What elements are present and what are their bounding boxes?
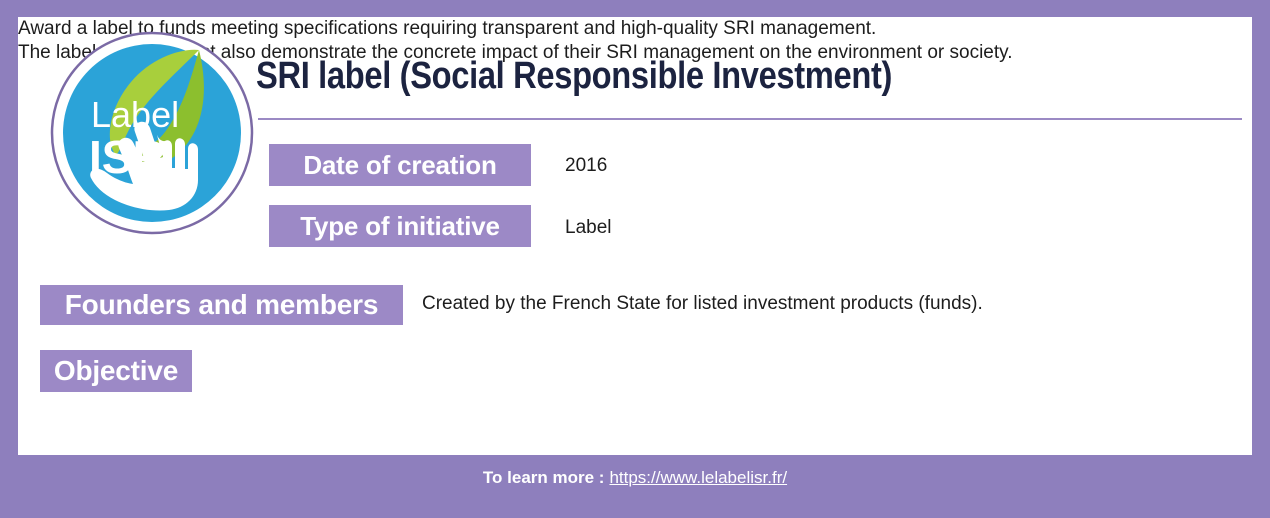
- logo-label-word: Label: [91, 94, 179, 135]
- field-value-type-of-initiative: Label: [565, 217, 612, 239]
- field-value-date-of-creation: 2016: [565, 155, 607, 177]
- title-divider: [258, 118, 1242, 120]
- poster-frame: Label ISR SRI label (Social Responsible …: [0, 0, 1270, 518]
- content-card: Label ISR SRI label (Social Responsible …: [18, 17, 1252, 455]
- footer-label: To learn more :: [483, 468, 605, 488]
- field-label-objective: Objective: [40, 350, 192, 392]
- logo-acronym: ISR: [89, 131, 166, 183]
- label-isr-logo: Label ISR: [47, 28, 257, 238]
- page-title: SRI label (Social Responsible Investment…: [256, 55, 892, 98]
- field-label-founders-and-members: Founders and members: [40, 285, 403, 325]
- field-label-type-of-initiative: Type of initiative: [269, 205, 531, 247]
- footer-bar: To learn more : https://www.lelabelisr.f…: [18, 455, 1252, 501]
- field-value-founders-and-members: Created by the French State for listed i…: [422, 293, 983, 315]
- footer-url-link[interactable]: https://www.lelabelisr.fr/: [609, 468, 787, 488]
- field-label-date-of-creation: Date of creation: [269, 144, 531, 186]
- logo-svg: Label ISR: [47, 28, 257, 238]
